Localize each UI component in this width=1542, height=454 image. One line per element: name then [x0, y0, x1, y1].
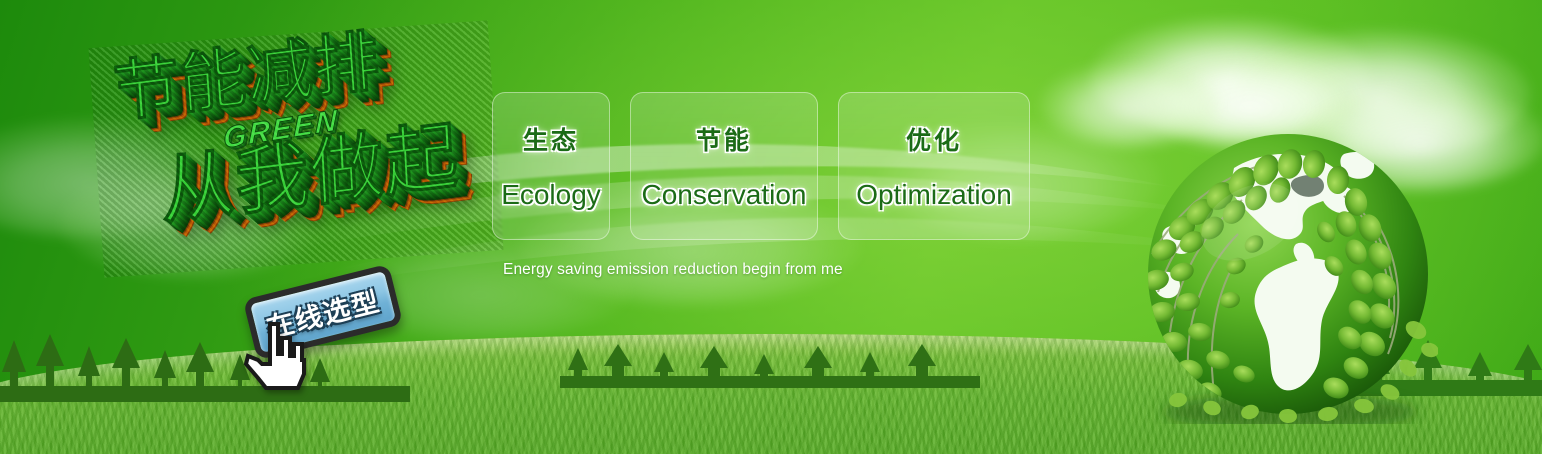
feature-card-cn-label: 节能 [696, 121, 752, 157]
feature-card-ecology[interactable]: 生态 Ecology [492, 92, 610, 240]
feature-card-en-label: Conservation [642, 179, 807, 211]
feature-card-cn-label: 生态 [523, 121, 579, 157]
cloud-icon [1090, 18, 1370, 138]
headline-3d-text: 节能减排 GREEN 从我做起 [88, 20, 503, 277]
feature-card-en-label: Ecology [501, 179, 601, 211]
headline-line-2: 从我做起 [159, 119, 461, 230]
leafy-earth-globe-icon [1138, 124, 1438, 424]
tagline-text: Energy saving emission reduction begin f… [503, 261, 843, 279]
feature-cards: 生态 Ecology 节能 Conservation 优化 Optimizati… [492, 92, 1030, 240]
feature-card-conservation[interactable]: 节能 Conservation [630, 92, 818, 240]
feature-card-en-label: Optimization [856, 179, 1012, 211]
hand-pointer-icon [240, 320, 310, 394]
feature-card-optimization[interactable]: 优化 Optimization [838, 92, 1030, 240]
headline-line-1: 节能减排 [111, 27, 382, 126]
feature-card-cn-label: 优化 [906, 121, 962, 157]
eco-promo-banner: 节能减排 GREEN 从我做起 在线选型 生态 Ecology 节能 Conse… [0, 0, 1542, 454]
